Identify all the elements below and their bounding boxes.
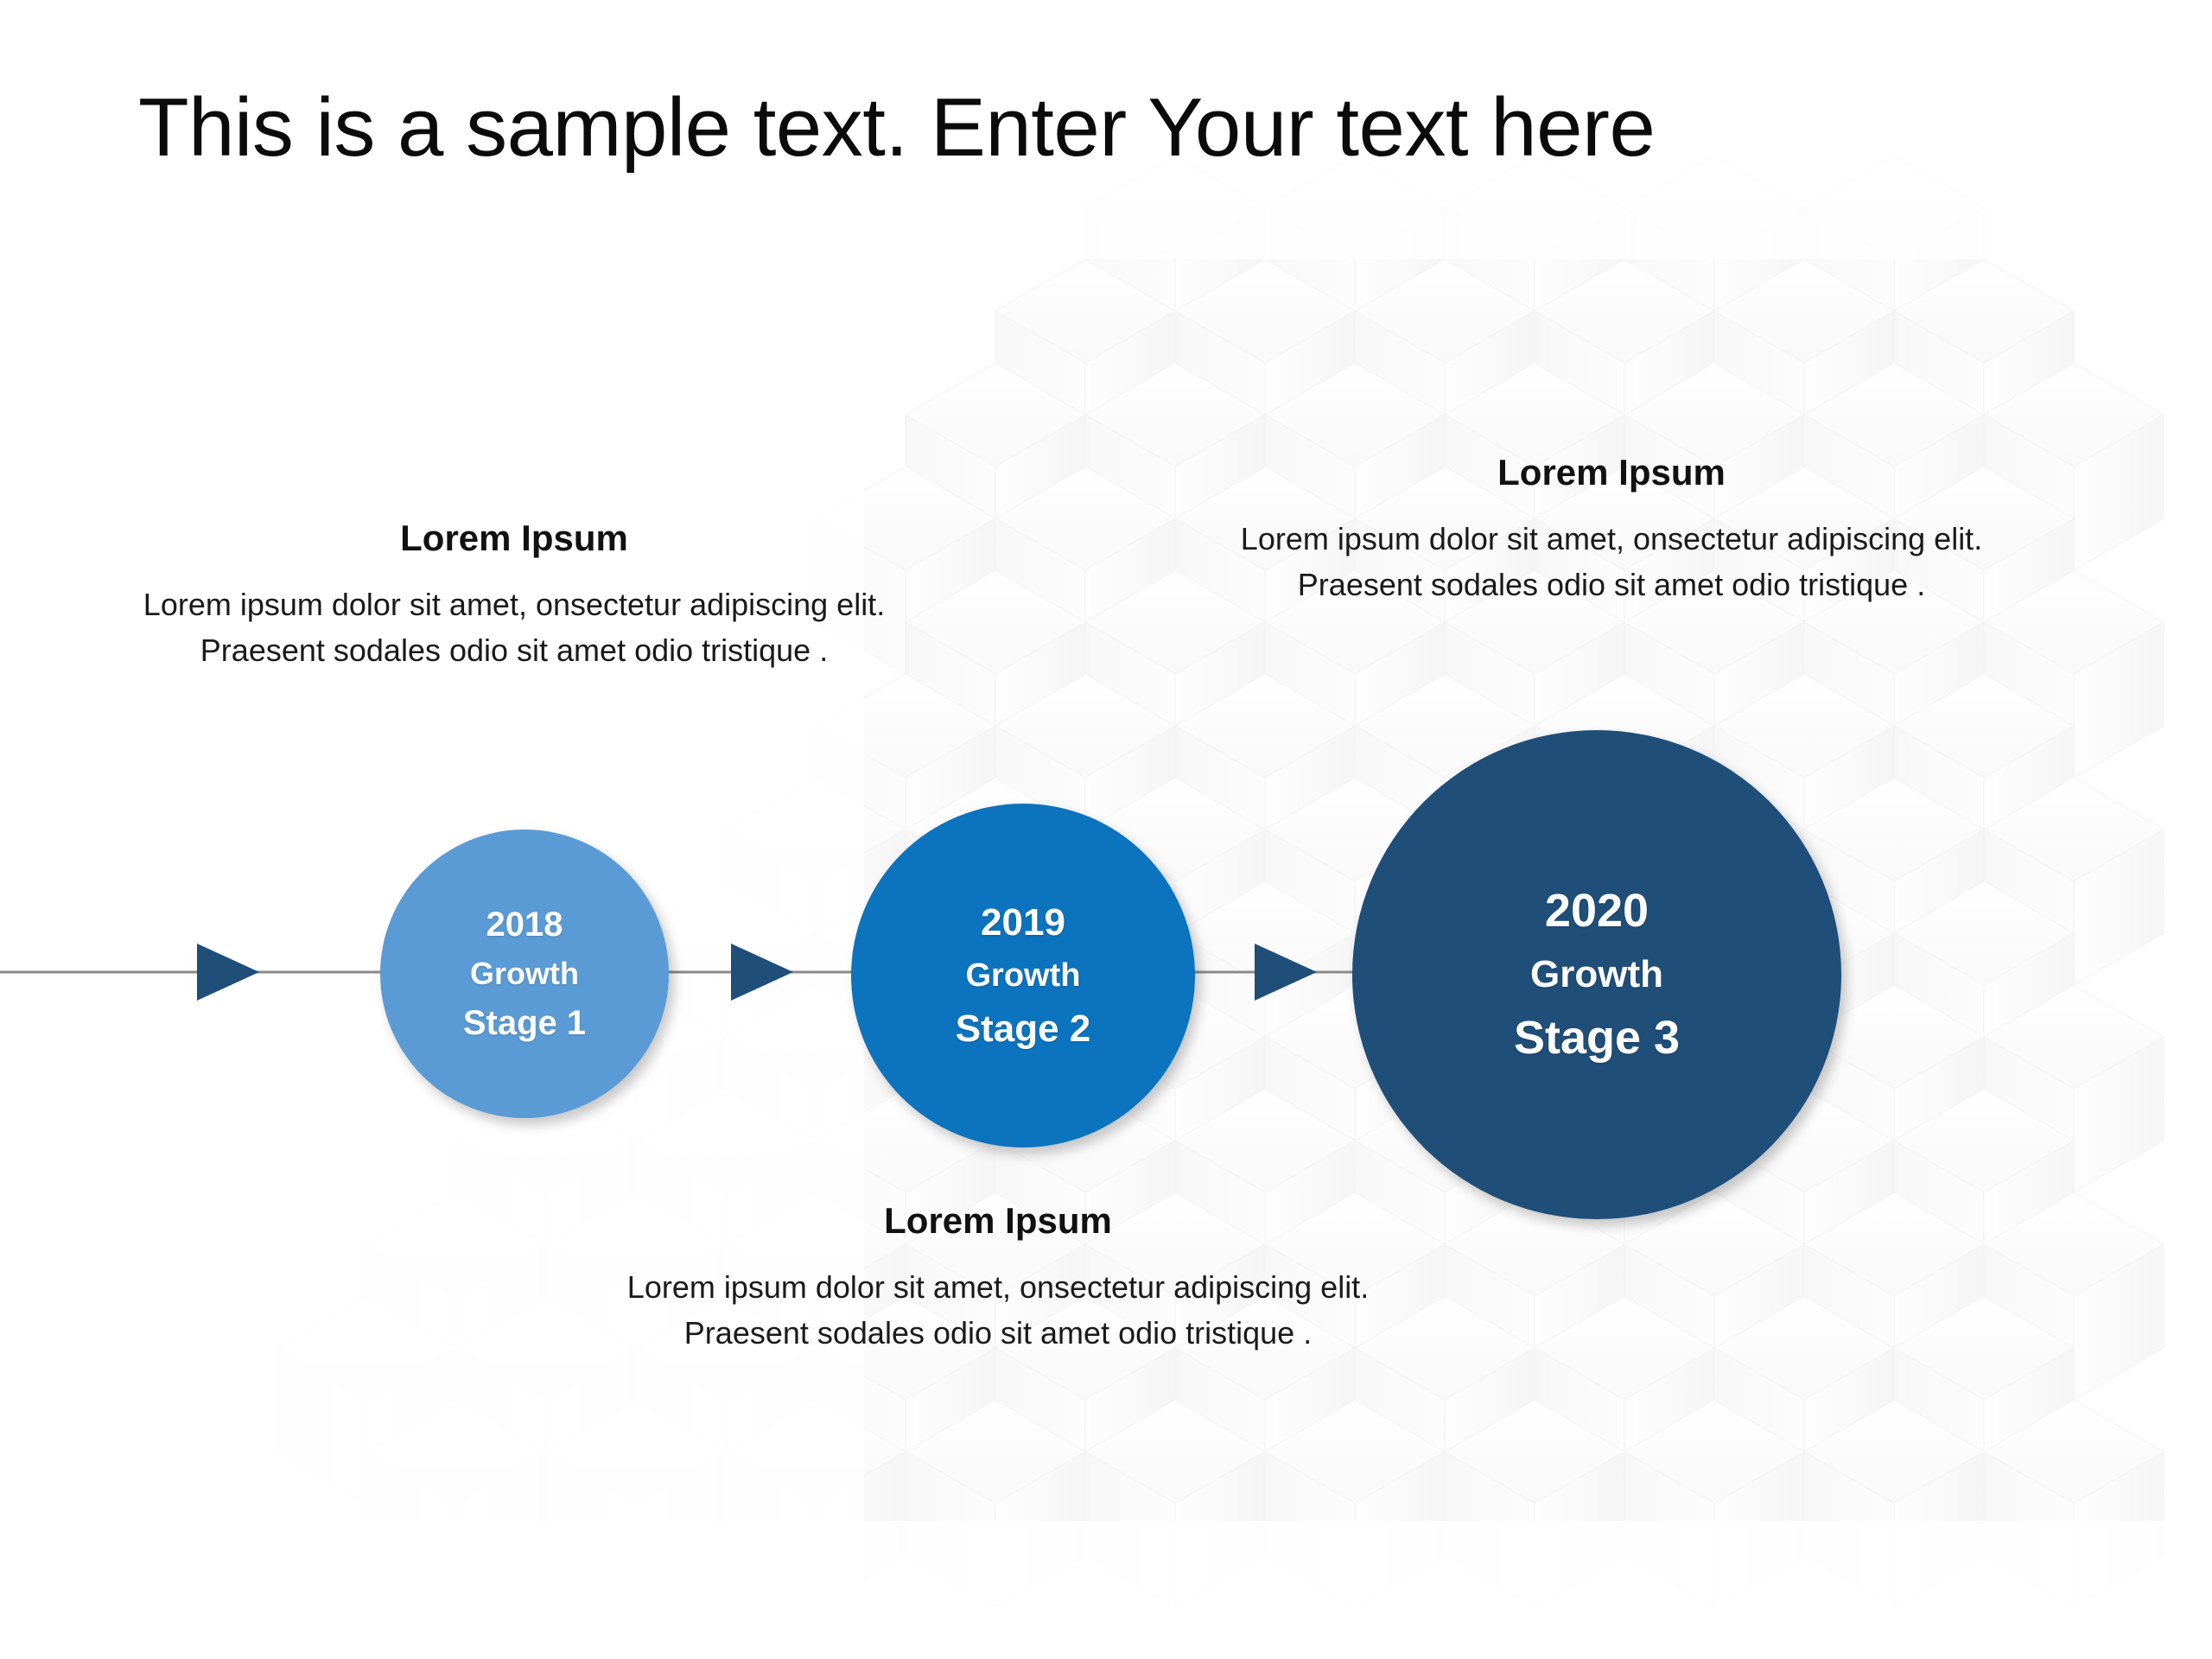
text-block-heading: Lorem Ipsum: [605, 1199, 1391, 1243]
timeline-node-stage-2[interactable]: 2019 Growth Stage 2: [851, 804, 1195, 1147]
node-stage: Stage 3: [1514, 1003, 1680, 1073]
text-block-body: Lorem ipsum dolor sit amet, onsectetur a…: [605, 1265, 1391, 1355]
text-block-body: Lorem ipsum dolor sit amet, onsectetur a…: [121, 582, 907, 672]
text-block-heading: Lorem Ipsum: [121, 517, 907, 560]
arrow-stage-1-to-2-icon: [731, 944, 793, 1001]
text-block-heading: Lorem Ipsum: [1210, 451, 2013, 494]
node-label: Growth: [966, 951, 1081, 1001]
text-block-stage-2: Lorem Ipsum Lorem ipsum dolor sit amet, …: [605, 1199, 1391, 1356]
timeline-node-stage-1[interactable]: 2018 Growth Stage 1: [380, 829, 669, 1118]
node-year: 2020: [1545, 876, 1649, 946]
slide-canvas: This is a sample text. Enter Your text h…: [0, 0, 2212, 1659]
node-year: 2019: [981, 894, 1065, 951]
arrow-before-stage-1-icon: [197, 944, 259, 1001]
node-stage: Stage 1: [463, 997, 586, 1049]
node-label: Growth: [1530, 946, 1663, 1003]
timeline-node-stage-3[interactable]: 2020 Growth Stage 3: [1352, 730, 1841, 1219]
node-stage: Stage 2: [956, 1001, 1091, 1058]
node-label: Growth: [470, 950, 579, 997]
text-block-stage-3: Lorem Ipsum Lorem ipsum dolor sit amet, …: [1210, 451, 2013, 607]
page-title: This is a sample text. Enter Your text h…: [138, 85, 2126, 172]
text-block-stage-1: Lorem Ipsum Lorem ipsum dolor sit amet, …: [121, 517, 907, 673]
node-year: 2018: [486, 899, 563, 950]
arrow-stage-2-to-3-icon: [1255, 944, 1317, 1001]
text-block-body: Lorem ipsum dolor sit amet, onsectetur a…: [1210, 517, 2013, 607]
